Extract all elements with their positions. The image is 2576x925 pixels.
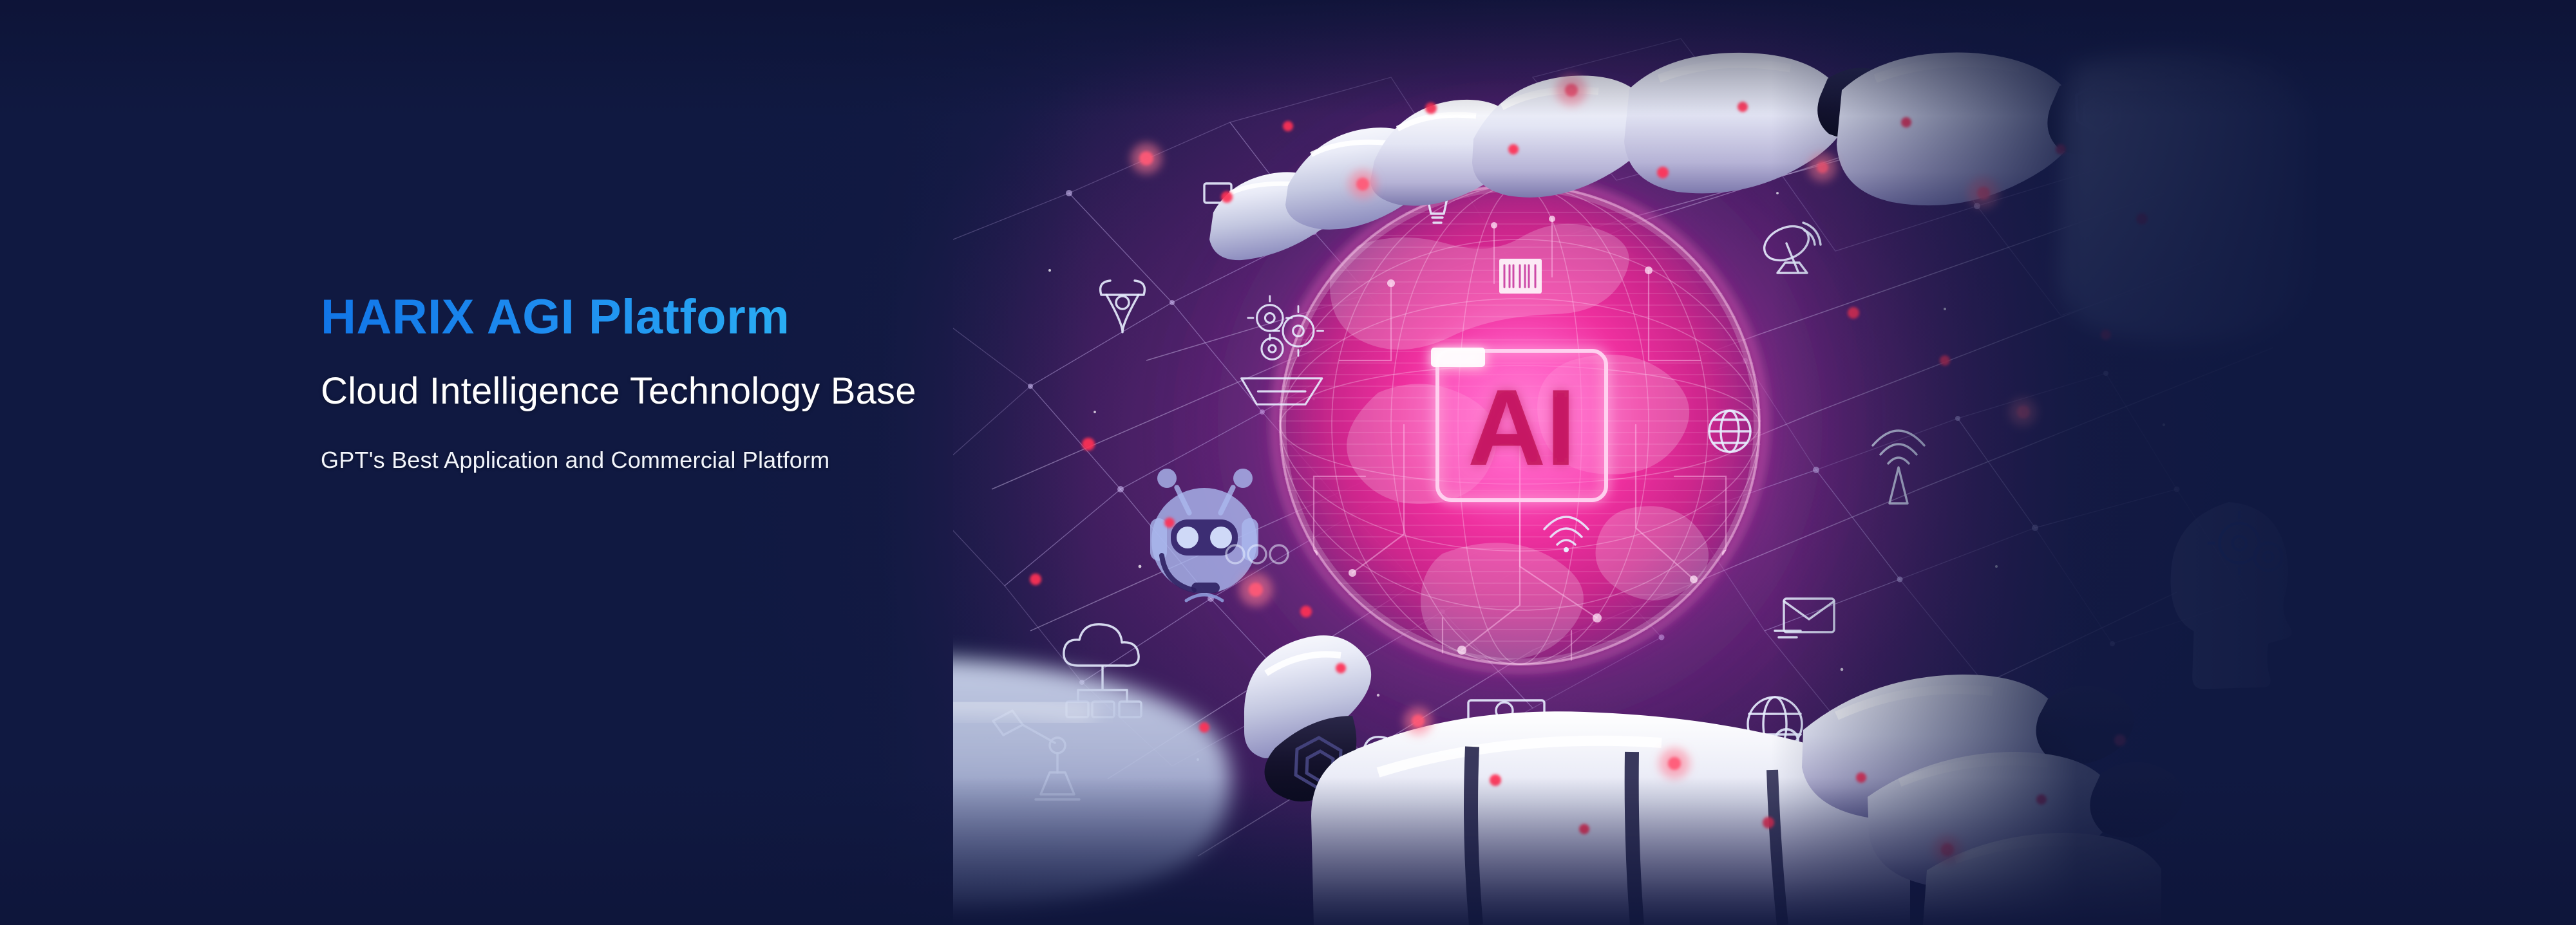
hero-copy-block: HARIX AGI Platform Cloud Intelligence Te… [321,293,1158,472]
hero-artwork: AI [953,0,2357,925]
page-tagline: GPT's Best Application and Commercial Pl… [321,449,1158,472]
page-subtitle: Cloud Intelligence Technology Base [321,373,1158,410]
hero-banner: AI [0,0,2576,925]
page-title: HARIX AGI Platform [321,293,1158,342]
robot-forearm-right [2062,50,2312,343]
human-head-ai-icon [2171,502,2292,689]
ai-badge: AI [1431,348,1606,500]
barcode-icon [1499,259,1542,294]
ai-badge-label: AI [1468,367,1576,488]
